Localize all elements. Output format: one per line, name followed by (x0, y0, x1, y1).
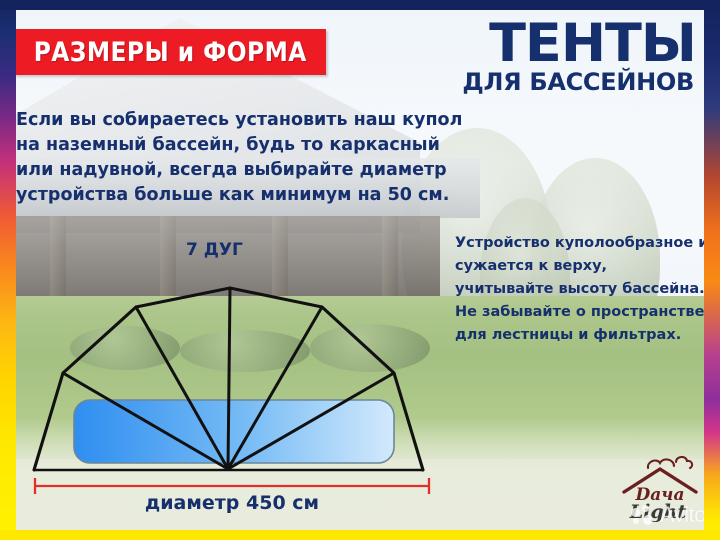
frame-bar-bottom (0, 530, 720, 540)
avito-dots-icon (631, 505, 657, 525)
dome-diagram (0, 0, 720, 540)
frame-gradient-left (0, 0, 16, 540)
poster: РАЗМЕРЫ и ФОРМА ТЕНТЫ ДЛЯ БАССЕЙНОВ Если… (0, 0, 720, 540)
avito-watermark: Avito (631, 502, 706, 528)
frame-bar-top (0, 0, 720, 10)
diameter-label: диаметр 450 см (34, 492, 430, 514)
pool-rectangle (74, 400, 394, 463)
frame-gradient-right (704, 0, 720, 540)
avito-watermark-text: Avito (660, 502, 706, 528)
logo-cloud-icon (648, 457, 692, 468)
